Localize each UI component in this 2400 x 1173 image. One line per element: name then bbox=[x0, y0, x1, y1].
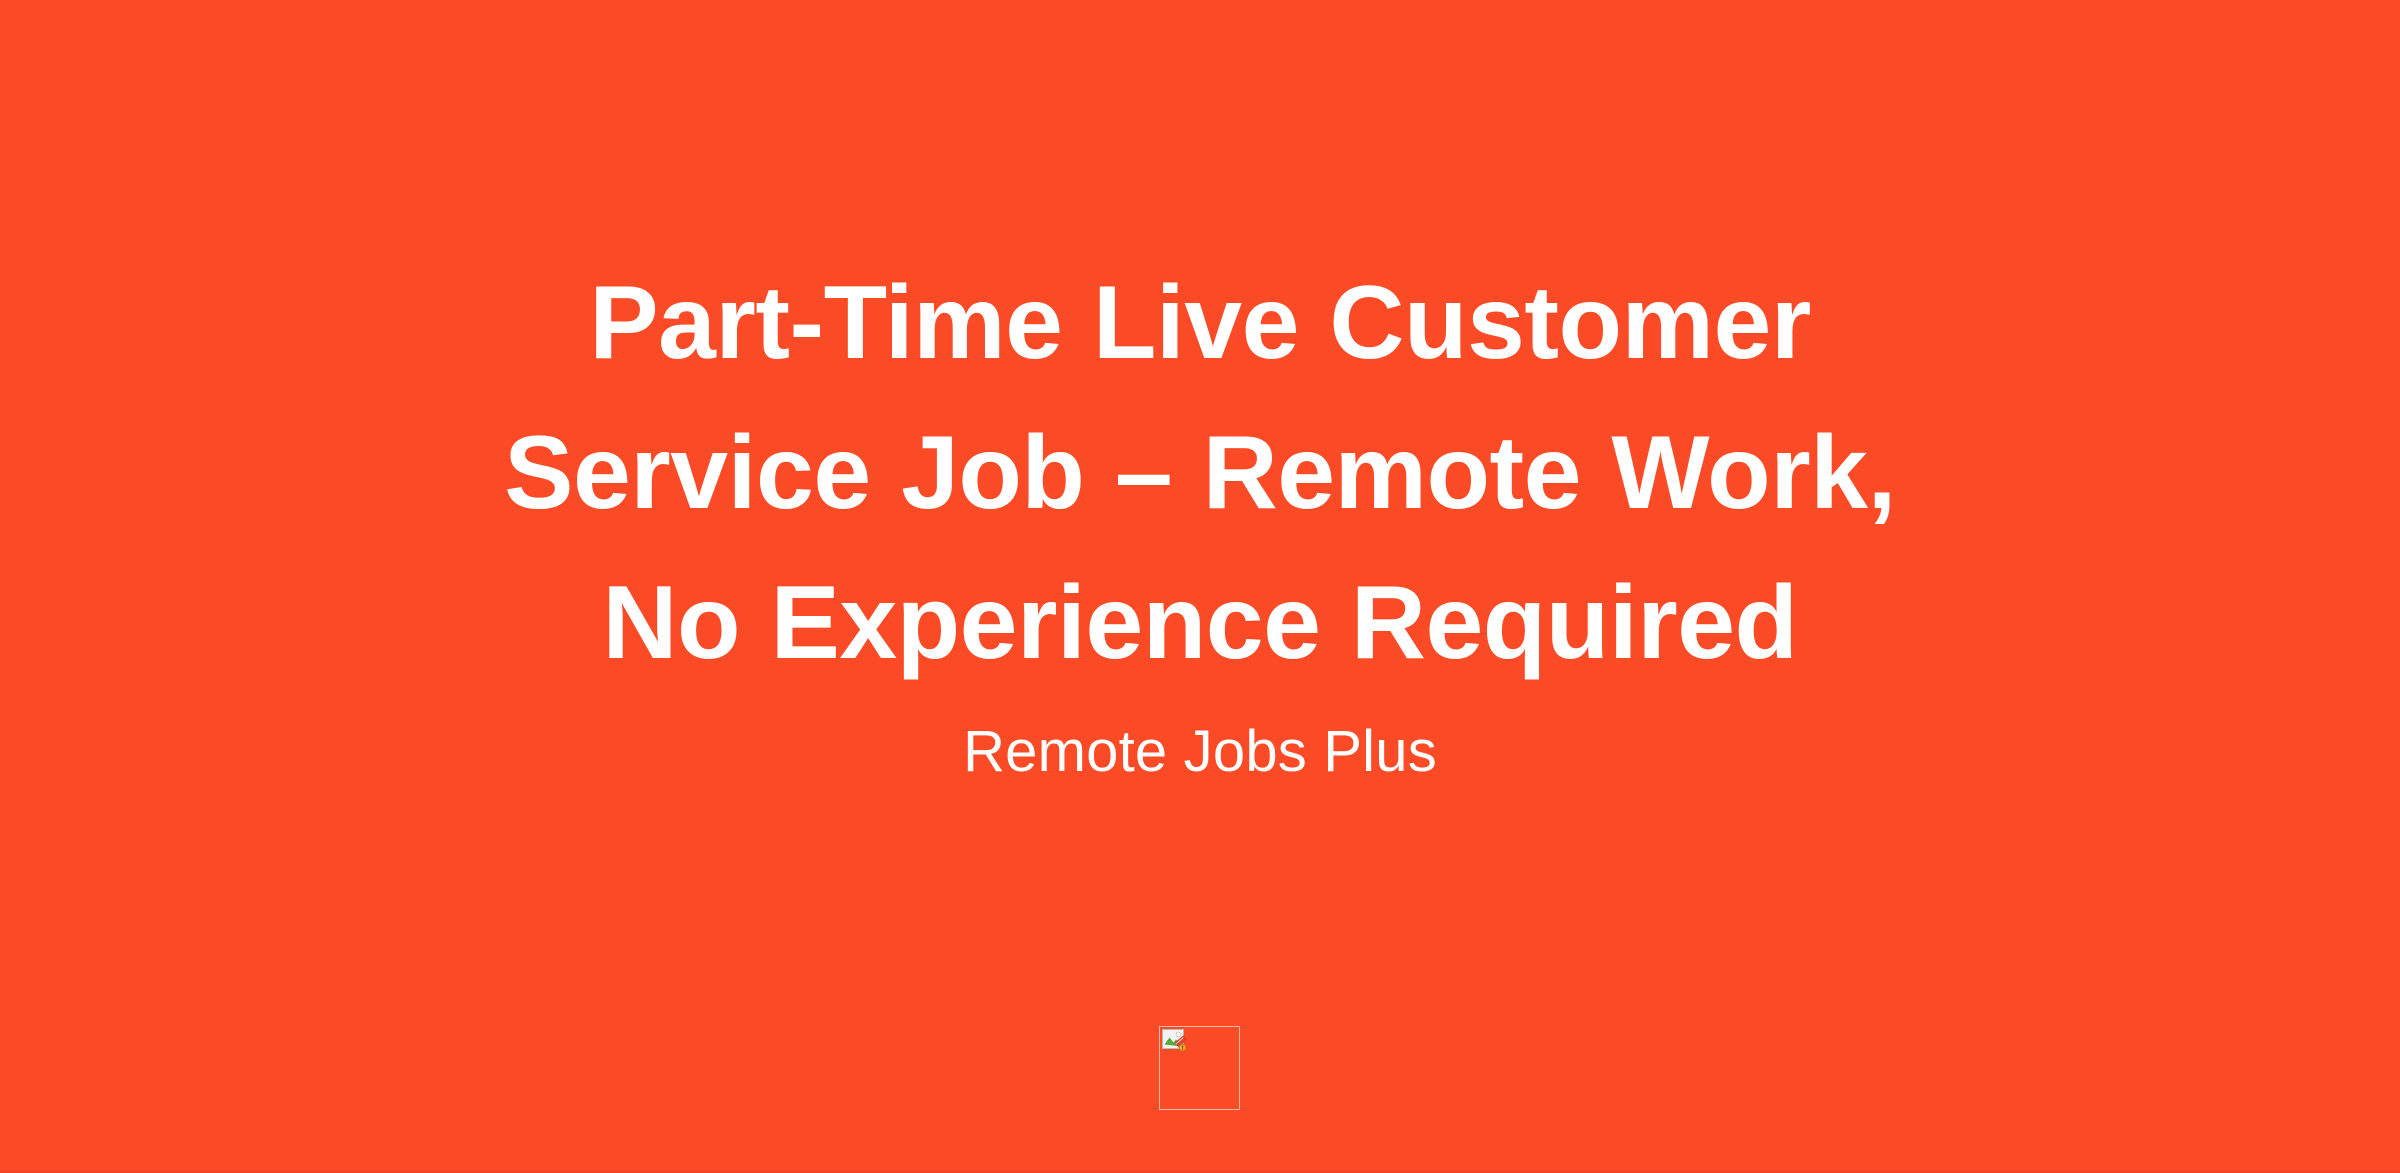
broken-image-icon bbox=[1162, 1029, 1188, 1053]
social-share-card: Part-Time Live Customer Service Job – Re… bbox=[0, 0, 2400, 1173]
broken-image-placeholder bbox=[1159, 1026, 1240, 1110]
card-text-block: Part-Time Live Customer Service Job – Re… bbox=[0, 248, 2400, 788]
site-name-subtitle: Remote Jobs Plus bbox=[180, 716, 2220, 788]
page-title: Part-Time Live Customer Service Job – Re… bbox=[180, 248, 2220, 698]
